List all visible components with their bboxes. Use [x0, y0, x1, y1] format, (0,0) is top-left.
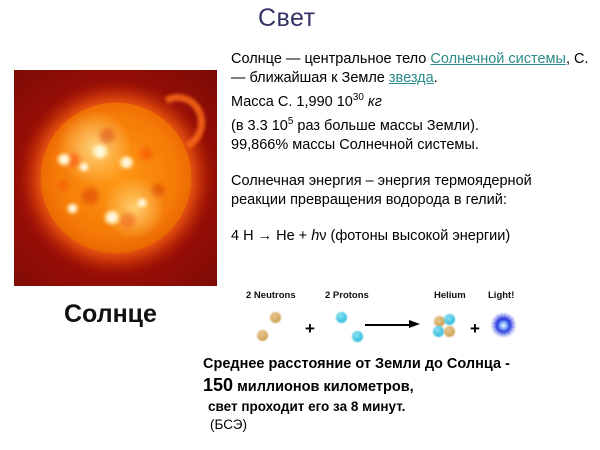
arrow-shaft — [365, 324, 411, 326]
fusion-equation: 4 H → He + hν (фотоны высокой энергии) — [231, 227, 597, 246]
paragraph-spacer — [231, 210, 597, 227]
sun-bright-spot — [56, 153, 72, 166]
text-run: (в 3.3 10 — [231, 118, 288, 134]
sun-bright-spot — [103, 210, 121, 225]
reaction-arrow-icon — [365, 320, 421, 329]
proton-particle-icon — [352, 331, 363, 342]
label-neutrons: 2 Neutrons — [246, 290, 296, 301]
paragraph-definition: Солнце — центральное тело Солнечной сист… — [231, 50, 597, 88]
arrow-head — [409, 320, 420, 328]
plus-sign-1: + — [305, 320, 315, 337]
helium-proton-icon — [433, 326, 444, 337]
light-travel-time: свет проходит его за 8 минут. — [203, 398, 597, 416]
sun-photo — [14, 70, 217, 286]
label-light: Light! — [488, 290, 514, 301]
figure-caption: Солнце — [64, 300, 157, 329]
sun-bright-spot — [118, 156, 135, 169]
helium-neutron-icon — [444, 326, 455, 337]
distance-value-line: 150 миллионов километров, — [203, 375, 597, 398]
text-run: 4 H → He + — [231, 228, 311, 244]
text-run: раз больше массы Земли). — [293, 118, 479, 134]
distance-block: Среднее расстояние от Земли до Солнца - … — [203, 355, 597, 434]
starburst-core — [498, 320, 509, 331]
body-text-block: Солнце — центральное тело Солнечной сист… — [231, 50, 597, 246]
paragraph-earth-ratio: (в 3.3 105 раз больше массы Земли). — [231, 112, 597, 136]
text-run: . — [434, 70, 438, 86]
light-starburst-icon — [490, 312, 516, 338]
paragraph-mass-percent: 99,866% массы Солнечной системы. — [231, 136, 597, 155]
slide-canvas: Свет Солнце Солнце — центральное тело Со… — [0, 0, 600, 450]
link-star[interactable]: звезда — [389, 70, 434, 86]
distance-units: миллионов километров, — [233, 379, 414, 395]
page-title: Свет — [258, 4, 316, 33]
distance-number: 150 — [203, 375, 233, 395]
text-run: Масса С. 1,990 10 — [231, 94, 353, 110]
proton-particle-icon — [336, 312, 347, 323]
paragraph-energy-line1: Солнечная энергия – энергия термоядерной — [231, 172, 597, 191]
helium-proton-icon — [444, 314, 455, 325]
label-protons: 2 Protons — [325, 290, 369, 301]
paragraph-mass: Масса С. 1,990 1030 кг — [231, 88, 597, 112]
neutron-particle-icon — [257, 330, 268, 341]
paragraph-energy-line2: реакции превращения водорода в гелий: — [231, 191, 597, 210]
source-citation: (БСЭ) — [203, 416, 597, 434]
text-run: Солнце — центральное тело — [231, 51, 430, 67]
exponent-30: 30 — [353, 92, 364, 103]
plus-sign-2: + — [470, 320, 480, 337]
distance-heading: Среднее расстояние от Земли до Солнца - — [203, 355, 597, 374]
sun-bright-spot — [66, 203, 79, 214]
unit-kg: кг — [364, 94, 382, 110]
paragraph-spacer — [231, 155, 597, 172]
sun-bright-spot — [78, 162, 90, 172]
link-solar-system[interactable]: Солнечной системы — [430, 51, 566, 67]
text-run: ν (фотоны высокой энергии) — [319, 228, 510, 244]
fusion-diagram: 2 Neutrons 2 Protons Helium Light! + + — [238, 290, 558, 346]
sun-bright-spot — [136, 198, 148, 208]
label-helium: Helium — [434, 290, 466, 301]
sun-bright-spot — [90, 144, 110, 159]
neutron-particle-icon — [270, 312, 281, 323]
